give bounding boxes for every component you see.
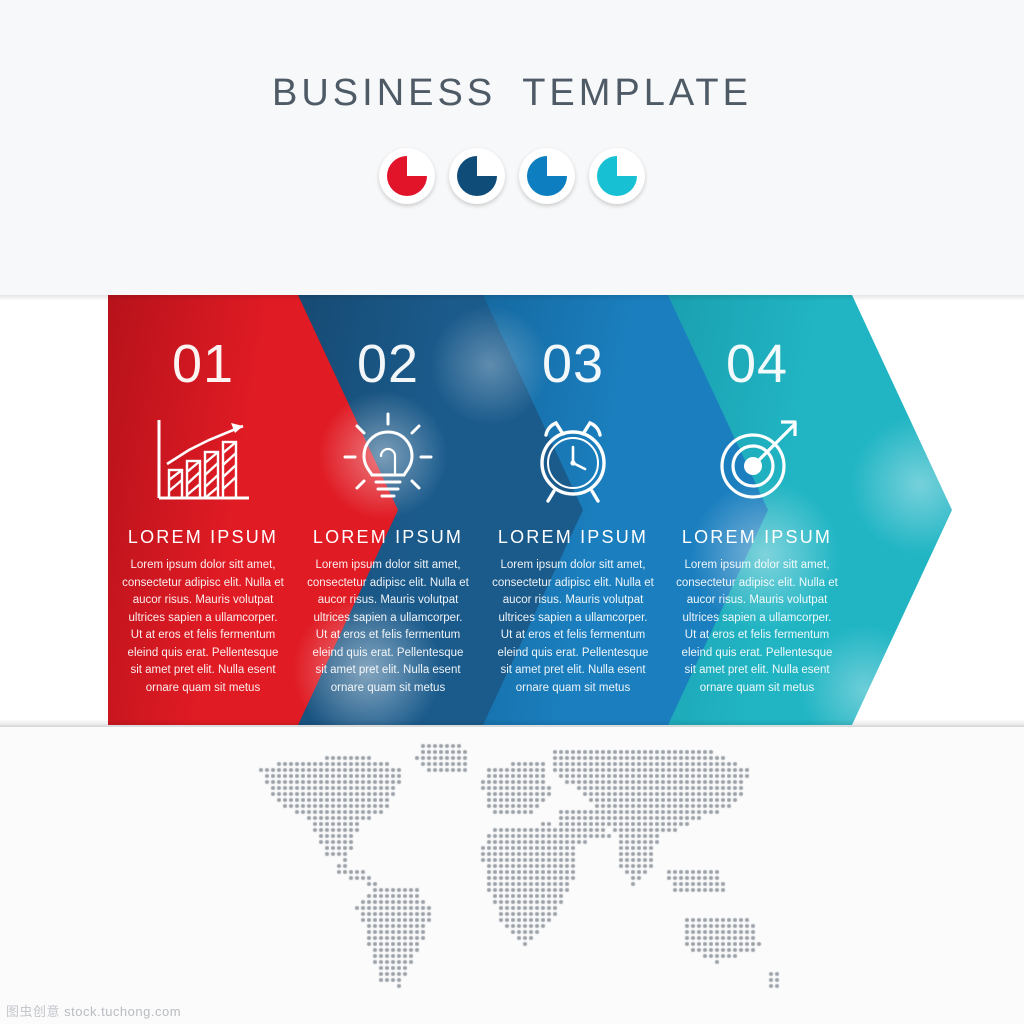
step-text-4: Lorem ipsum dolor sitt amet, consectetur… (662, 557, 852, 697)
step-column-1: 01 (108, 295, 298, 725)
watermark-url: stock.tuchong.com (64, 1004, 181, 1019)
watermark: 图虫创意 stock.tuchong.com (6, 1001, 181, 1020)
step-number-2: 02 (293, 333, 483, 395)
alarm-clock-icon (478, 405, 668, 515)
title-word-template: TEMPLATE (522, 72, 752, 115)
infographic-canvas: BUSINESSTEMPLATE (0, 0, 1024, 1024)
dotted-world-map (240, 737, 780, 997)
lightbulb-idea-icon (293, 405, 483, 515)
step-number-3: 03 (478, 333, 668, 395)
pie-icon-row (0, 144, 1024, 208)
step-number-4: 04 (662, 333, 852, 395)
step-column-4: 04 LOREM IPSUM Lorem ipsum dolor sitt am… (662, 295, 852, 725)
target-dart-icon (662, 405, 852, 515)
pie-chart-icon-3 (519, 148, 575, 204)
strip-bottom-shadow (0, 719, 1024, 727)
step-column-2: 02 LOREM IPSUM Lorem ips (293, 295, 483, 725)
step-column-3: 03 LOREM IPSUM Lorem ipsum dolor sitt am… (478, 295, 668, 725)
step-label-1: LOREM IPSUM (108, 527, 298, 548)
bar-chart-growth-icon (108, 405, 298, 515)
step-label-2: LOREM IPSUM (293, 527, 483, 548)
map-area (0, 727, 1024, 1024)
step-label-4: LOREM IPSUM (662, 527, 852, 548)
step-number-1: 01 (108, 333, 298, 395)
header-area: BUSINESSTEMPLATE (0, 0, 1024, 295)
step-text-3: Lorem ipsum dolor sitt amet, consectetur… (478, 557, 668, 697)
step-label-3: LOREM IPSUM (478, 527, 668, 548)
watermark-cn: 图虫创意 (6, 1004, 60, 1019)
title-word-business: BUSINESS (272, 72, 496, 115)
strip-top-shadow (0, 295, 1024, 301)
pie-chart-icon-1 (379, 148, 435, 204)
step-text-1: Lorem ipsum dolor sitt amet, consectetur… (108, 557, 298, 697)
pie-chart-icon-2 (449, 148, 505, 204)
page-title: BUSINESSTEMPLATE (0, 72, 1024, 115)
step-text-2: Lorem ipsum dolor sitt amet, consectetur… (293, 557, 483, 697)
arrow-banner-strip: 01 (0, 295, 1024, 725)
pie-chart-icon-4 (589, 148, 645, 204)
